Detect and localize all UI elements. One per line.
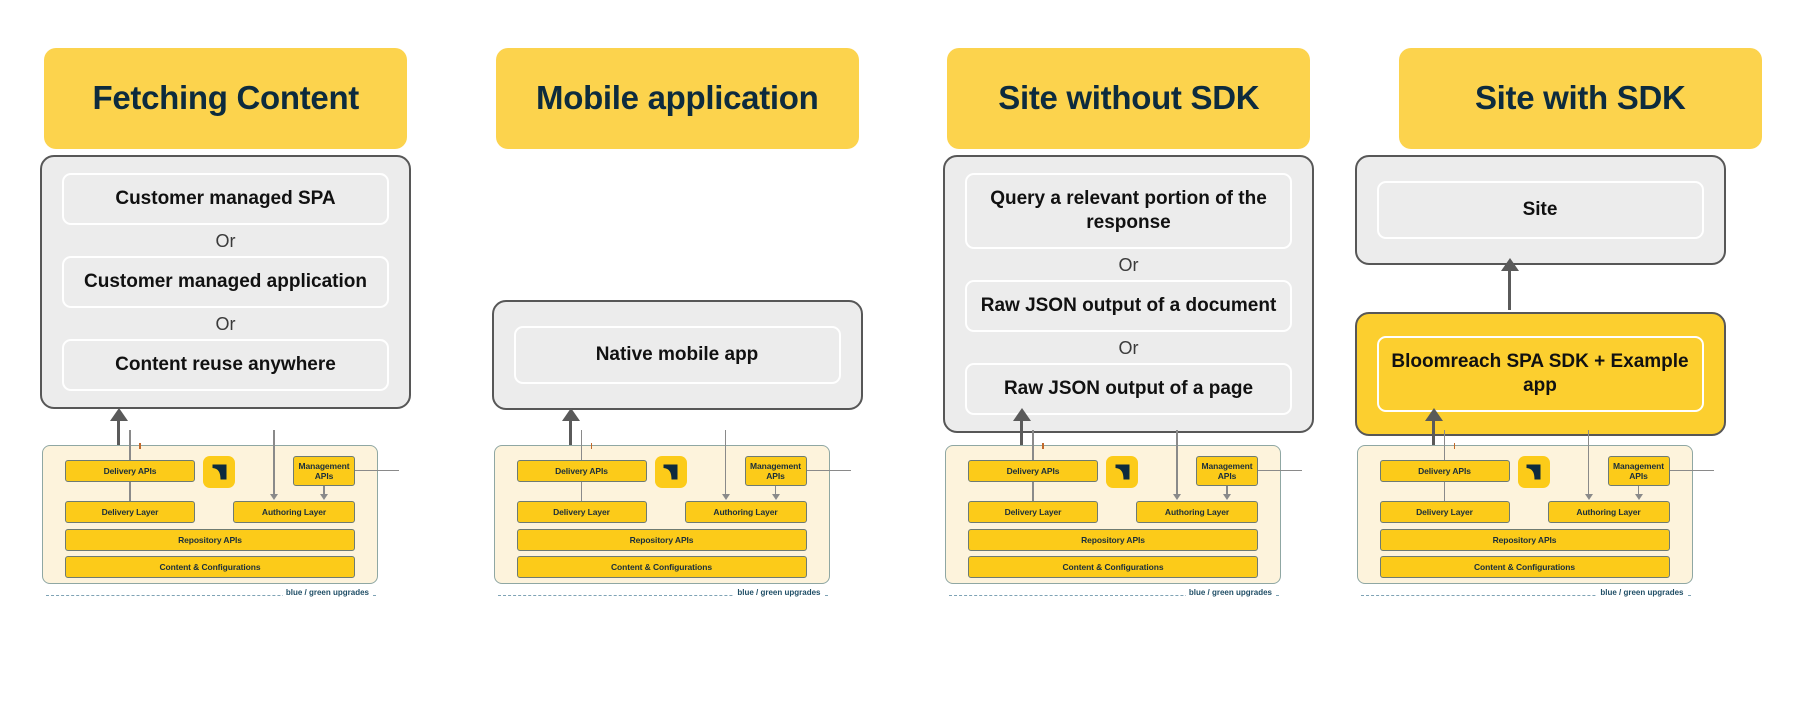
option-box-content-reuse-anywhere: Content reuse anywhere (62, 339, 389, 391)
platform-repository-apis: Repository APIs (65, 529, 355, 551)
connector-delivery-apis-layer (129, 482, 131, 501)
column-header-label: Site without SDK (998, 79, 1259, 118)
option-box-bloomreach-spa-sdk: Bloomreach SPA SDK + Example app (1377, 336, 1704, 412)
arrowhead-authoring-left (722, 494, 730, 500)
platform-tick-marker (1042, 443, 1044, 449)
connector-authoring-down (1176, 430, 1178, 497)
option-box-raw-json-document: Raw JSON output of a document (965, 280, 1292, 332)
connector-mgmt-apis-right-stub (807, 470, 851, 471)
bloomreach-logo-icon (203, 456, 235, 488)
upgrade-label: blue / green upgrades (1186, 588, 1275, 597)
connector-delivery-apis-up (1032, 430, 1034, 460)
column-header-fetching-content: Fetching Content (44, 48, 407, 149)
arrowhead-authoring-right (1223, 494, 1231, 500)
option-card-sdk: Bloomreach SPA SDK + Example app (1355, 312, 1726, 436)
connector-mgmt-apis-right-stub (1670, 470, 1714, 471)
platform-content-configurations: Content & Configurations (65, 556, 355, 578)
platform-box: Delivery APIs Delivery Layer Management … (42, 445, 378, 584)
or-separator: Or (62, 225, 389, 256)
connector-delivery-apis-up (581, 430, 583, 460)
blue-green-upgrades-band: blue / green upgrades (949, 588, 1279, 604)
connector-delivery-apis-layer (581, 482, 583, 501)
platform-delivery-layer: Delivery Layer (517, 501, 647, 523)
platform-delivery-apis: Delivery APIs (517, 460, 647, 482)
platform-management-apis: Management APIs (1608, 456, 1670, 486)
platform-content-configurations: Content & Configurations (968, 556, 1258, 578)
arrowhead-authoring-left (1585, 494, 1593, 500)
option-box-query-relevant-portion: Query a relevant portion of the response (965, 173, 1292, 249)
platform-delivery-apis: Delivery APIs (65, 460, 195, 482)
connector-delivery-apis-layer (1032, 482, 1034, 501)
connector-mgmt-apis-right-stub (355, 470, 399, 471)
platform-diagram-site-with-sdk: Delivery APIs Delivery Layer Management … (1355, 445, 1726, 685)
column-header-label: Fetching Content (93, 79, 360, 118)
option-card-site-without-sdk: Query a relevant portion of the response… (943, 155, 1314, 433)
column-mobile-application: Mobile application Native mobile app De (452, 0, 904, 726)
platform-box: Delivery APIs Delivery Layer Management … (494, 445, 830, 584)
column-header-site-with-sdk: Site with SDK (1399, 48, 1762, 149)
platform-authoring-layer: Authoring Layer (233, 501, 355, 523)
platform-repository-apis: Repository APIs (1380, 529, 1670, 551)
arrow-platform-to-card (110, 408, 128, 450)
connector-mgmt-apis-right-stub (1258, 470, 1302, 471)
platform-diagram-mobile-application: Delivery APIs Delivery Layer Management … (492, 445, 863, 685)
blue-green-upgrades-band: blue / green upgrades (46, 588, 376, 604)
bloomreach-logo-icon (655, 456, 687, 488)
platform-tick-marker (591, 443, 593, 449)
upgrade-label: blue / green upgrades (734, 588, 823, 597)
column-header-label: Site with SDK (1475, 79, 1686, 118)
blue-green-upgrades-band: blue / green upgrades (1361, 588, 1691, 604)
or-separator: Or (965, 332, 1292, 363)
column-header-site-without-sdk: Site without SDK (947, 48, 1310, 149)
connector-delivery-apis-up (1444, 430, 1446, 460)
arrow-platform-to-card (562, 408, 580, 450)
arrow-platform-to-card (1013, 408, 1031, 450)
platform-tick-marker (139, 443, 141, 449)
bloomreach-logo-icon (1518, 456, 1550, 488)
platform-tick-marker (1454, 443, 1456, 449)
option-box-site: Site (1377, 181, 1704, 239)
option-box-customer-managed-spa: Customer managed SPA (62, 173, 389, 225)
option-box-native-mobile-app: Native mobile app (514, 326, 841, 384)
arrow-platform-to-sdk (1425, 408, 1443, 450)
platform-repository-apis: Repository APIs (968, 529, 1258, 551)
platform-delivery-apis: Delivery APIs (968, 460, 1098, 482)
platform-delivery-layer: Delivery Layer (968, 501, 1098, 523)
or-separator: Or (62, 308, 389, 339)
platform-delivery-layer: Delivery Layer (1380, 501, 1510, 523)
delivery-options-board: Fetching Content Customer managed SPA Or… (0, 0, 1806, 726)
platform-box: Delivery APIs Delivery Layer Management … (945, 445, 1281, 584)
bloomreach-logo-icon (1106, 456, 1138, 488)
option-card-fetching-content: Customer managed SPA Or Customer managed… (40, 155, 411, 409)
column-fetching-content: Fetching Content Customer managed SPA Or… (0, 0, 452, 726)
platform-diagram-fetching-content: Delivery APIs Delivery Layer Management … (40, 445, 411, 685)
platform-management-apis: Management APIs (745, 456, 807, 486)
platform-delivery-apis: Delivery APIs (1380, 460, 1510, 482)
connector-authoring-down (273, 430, 275, 497)
platform-authoring-layer: Authoring Layer (1548, 501, 1670, 523)
option-box-customer-managed-application: Customer managed application (62, 256, 389, 308)
column-header-mobile-application: Mobile application (496, 48, 859, 149)
upgrade-label: blue / green upgrades (1597, 588, 1686, 597)
connector-delivery-apis-layer (1444, 482, 1446, 501)
platform-authoring-layer: Authoring Layer (1136, 501, 1258, 523)
arrow-sdk-to-site (1501, 258, 1519, 310)
upgrade-label: blue / green upgrades (283, 588, 372, 597)
connector-authoring-down (725, 430, 727, 497)
or-separator: Or (965, 249, 1292, 280)
platform-content-configurations: Content & Configurations (517, 556, 807, 578)
connector-authoring-down (1588, 430, 1590, 497)
arrowhead-authoring-right (772, 494, 780, 500)
platform-management-apis: Management APIs (1196, 456, 1258, 486)
platform-authoring-layer: Authoring Layer (685, 501, 807, 523)
option-box-raw-json-page: Raw JSON output of a page (965, 363, 1292, 415)
column-site-without-sdk: Site without SDK Query a relevant portio… (903, 0, 1355, 726)
column-header-label: Mobile application (536, 79, 818, 118)
platform-management-apis: Management APIs (293, 456, 355, 486)
platform-box: Delivery APIs Delivery Layer Management … (1357, 445, 1693, 584)
arrowhead-authoring-right (1635, 494, 1643, 500)
platform-repository-apis: Repository APIs (517, 529, 807, 551)
column-site-with-sdk: Site with SDK Site Bloomreach SPA SDK + … (1355, 0, 1806, 726)
option-card-mobile-application: Native mobile app (492, 300, 863, 410)
blue-green-upgrades-band: blue / green upgrades (498, 588, 828, 604)
arrowhead-authoring-left (270, 494, 278, 500)
platform-content-configurations: Content & Configurations (1380, 556, 1670, 578)
arrowhead-authoring-right (320, 494, 328, 500)
arrowhead-authoring-left (1173, 494, 1181, 500)
platform-diagram-site-without-sdk: Delivery APIs Delivery Layer Management … (943, 445, 1314, 685)
option-card-site: Site (1355, 155, 1726, 265)
platform-delivery-layer: Delivery Layer (65, 501, 195, 523)
connector-delivery-apis-up (129, 430, 131, 460)
